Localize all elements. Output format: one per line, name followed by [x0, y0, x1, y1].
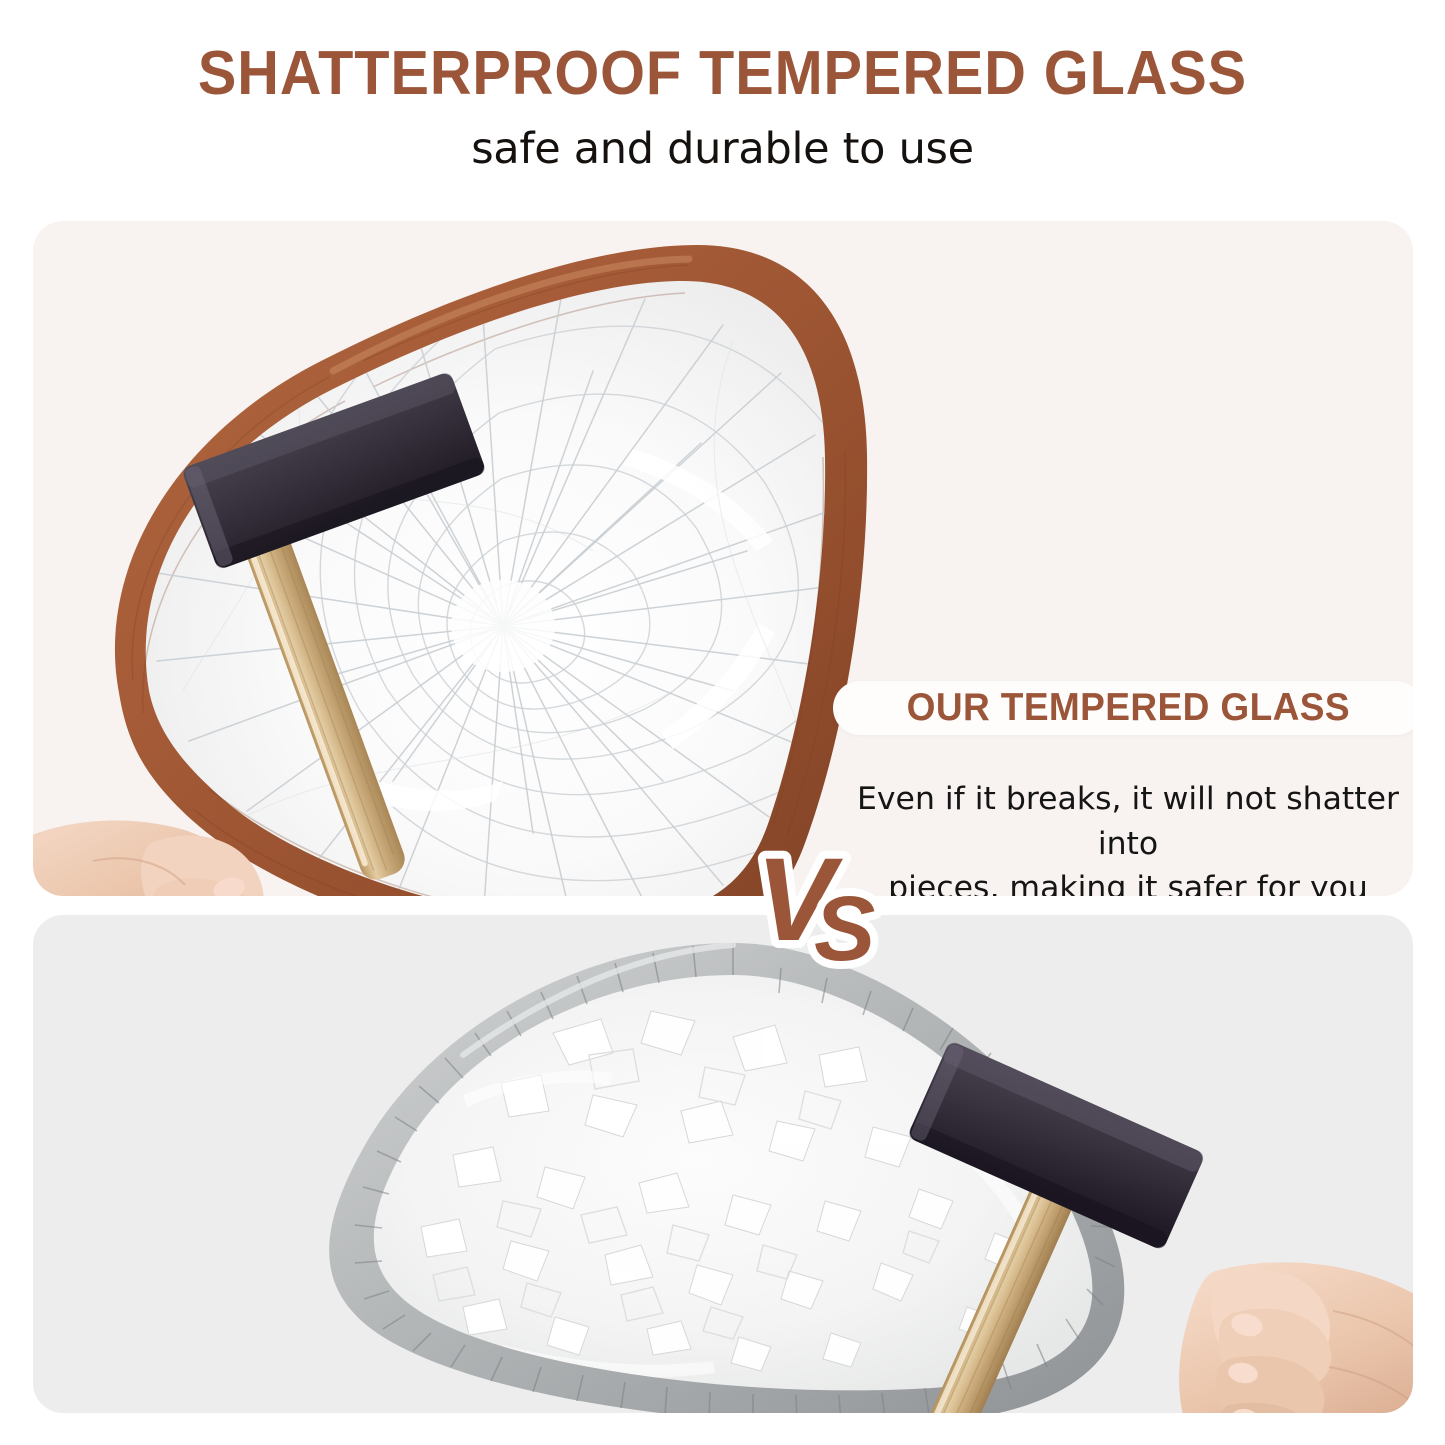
ours-badge-label: OUR TEMPERED GLASS — [906, 686, 1349, 730]
page-title: SHATTERPROOF TEMPERED GLASS — [51, 38, 1395, 109]
ordinary-glass-illustration — [33, 915, 1413, 1413]
ordinary-glass-panel: OTHER ORDINARY GLASS Other's glass mirro… — [33, 915, 1413, 1413]
infographic-page: SHATTERPROOF TEMPERED GLASS safe and dur… — [0, 0, 1445, 1445]
ours-description: Even if it breaks, it will not shatter i… — [833, 777, 1413, 896]
hand-icon — [1179, 1262, 1413, 1413]
tempered-glass-panel: OUR TEMPERED GLASS Even if it breaks, it… — [33, 221, 1413, 896]
page-subtitle: safe and durable to use — [0, 124, 1445, 174]
ours-badge: OUR TEMPERED GLASS — [833, 681, 1413, 735]
